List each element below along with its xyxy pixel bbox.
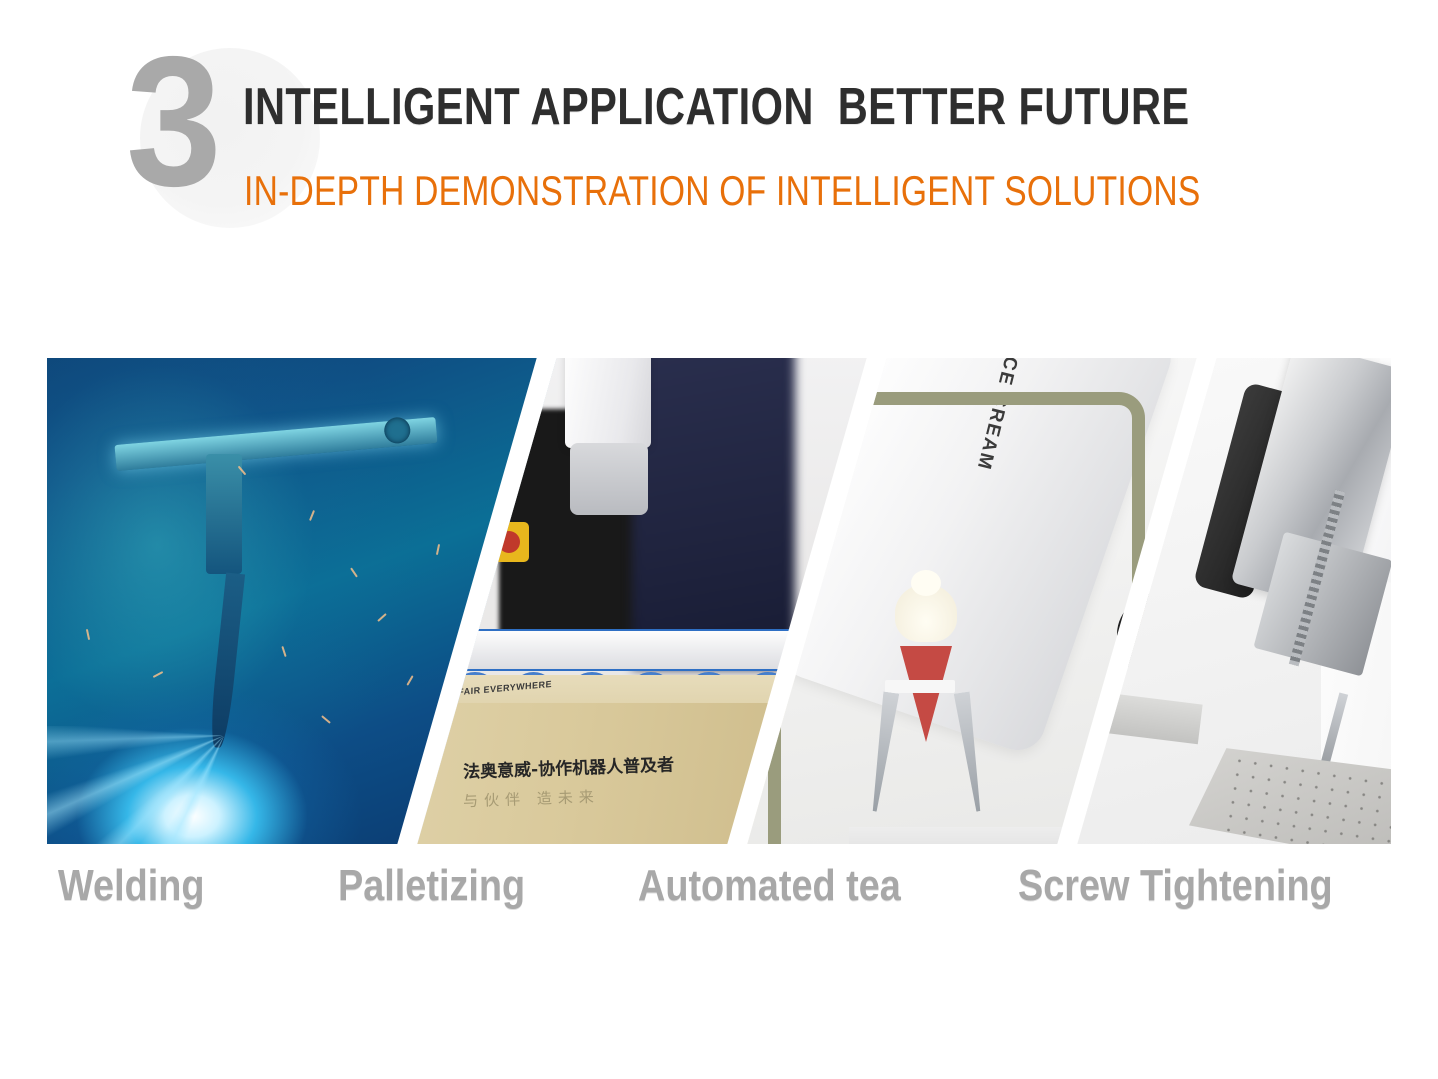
carton-slogan-cn: 与伙伴 造未来	[463, 785, 600, 811]
welding-torch-neck-icon	[206, 454, 242, 574]
spark-icon	[309, 510, 315, 521]
slide-header: 3 INTELLIGENT APPLICATION BETTER FUTURE …	[0, 0, 1438, 300]
label-welding: Welding	[58, 860, 204, 912]
label-automated-tea: Automated tea	[638, 860, 901, 912]
welding-torch-tip-icon	[207, 572, 244, 748]
welding-torch-bracket-icon	[114, 417, 437, 471]
spark-icon	[86, 629, 90, 640]
label-palletizing: Palletizing	[338, 860, 525, 912]
vacuum-gripper-icon	[448, 629, 795, 671]
label-screw-tightening: Screw Tightening	[1018, 860, 1333, 912]
panel-strip: FAIR EVERYWHERE 法奥意威-协作机器人普及者 与伙伴 造未来 IC…	[47, 358, 1391, 844]
spark-icon	[377, 613, 387, 622]
panel-labels: Welding Palletizing Automated tea Screw …	[0, 860, 1438, 930]
cobot-arm-icon	[565, 358, 651, 448]
page-subtitle: IN-DEPTH DEMONSTRATION OF INTELLIGENT SO…	[244, 168, 1201, 214]
background-person	[632, 358, 795, 669]
section-number: 3	[126, 30, 220, 215]
page-title: INTELLIGENT APPLICATION BETTER FUTURE	[243, 79, 1190, 135]
spark-icon	[436, 544, 440, 555]
spark-icon	[153, 671, 164, 678]
spark-icon	[350, 567, 358, 577]
spark-icon	[281, 646, 286, 657]
welding-arc-rays	[47, 726, 451, 844]
spark-icon	[321, 715, 331, 724]
cobot-joint-icon	[570, 443, 648, 515]
slide-root: 3 INTELLIGENT APPLICATION BETTER FUTURE …	[0, 0, 1438, 1079]
spark-icon	[406, 675, 413, 686]
